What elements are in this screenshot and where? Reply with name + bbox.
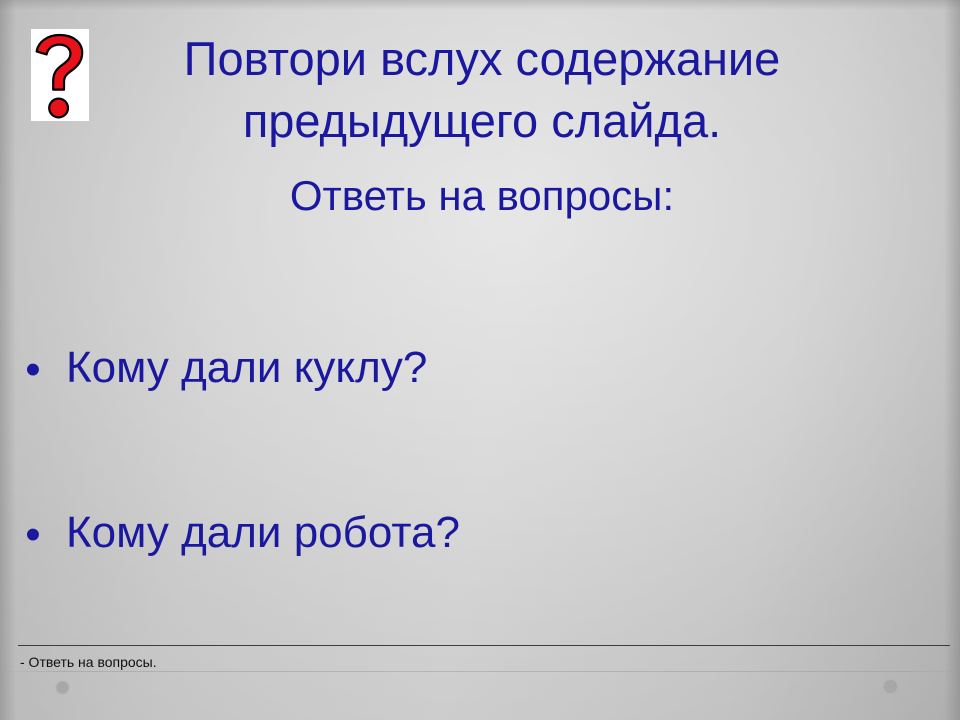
footer-hairline	[0, 671, 960, 672]
title-line-3: Ответь на вопросы:	[76, 152, 888, 228]
bullet-text-question-1: Кому дали куклу?	[66, 340, 427, 396]
title-line-1: Повтори вслух содержание	[76, 28, 888, 90]
decorative-dot-right	[885, 681, 896, 692]
slide-canvas: Повтори вслух содержание предыдущего сла…	[0, 0, 960, 720]
list-item: • Кому дали куклу?	[0, 340, 960, 505]
bullet-marker-icon: •	[0, 505, 66, 562]
slide-title: Повтори вслух содержание предыдущего сла…	[76, 28, 888, 228]
question-bullet-list: • Кому дали куклу? • Кому дали робота?	[0, 340, 960, 670]
slide-top-edge-shading	[0, 0, 960, 10]
decorative-dot-left	[57, 682, 68, 693]
bullet-text-question-2: Кому дали робота?	[66, 505, 460, 561]
bullet-marker-icon: •	[0, 340, 66, 397]
footer-note: - Ответь на вопросы.	[20, 652, 157, 672]
title-line-2: предыдущего слайда.	[76, 90, 888, 152]
footer-divider	[18, 645, 950, 646]
